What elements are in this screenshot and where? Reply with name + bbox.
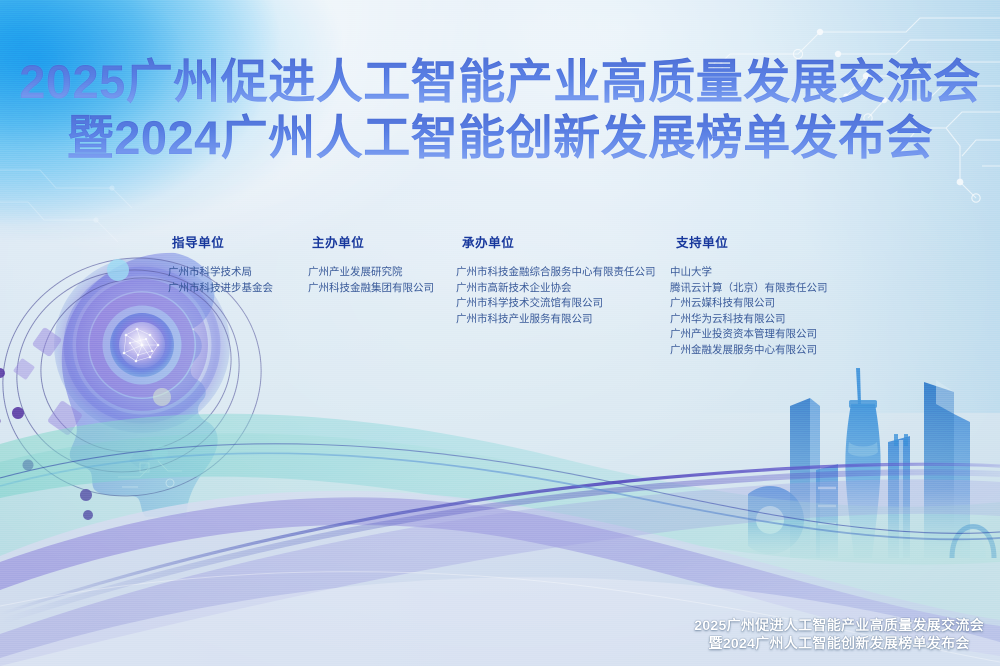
- title-line-2: 暨2024广州人工智能创新发展榜单发布会: [0, 112, 1000, 164]
- watermark-line-1: 2025广州促进人工智能产业高质量发展交流会: [694, 617, 984, 635]
- org-column-organizer: 主办单位 广州产业发展研究院 广州科技金融集团有限公司: [308, 232, 434, 296]
- org-item: 广州市科技产业服务有限公司: [456, 312, 656, 328]
- org-item: 广州市科技进步基金会: [168, 281, 273, 297]
- org-column-host: 承办单位 广州市科技金融综合服务中心有限责任公司 广州市高新技术企业协会 广州市…: [456, 232, 656, 327]
- page-title: 2025广州促进人工智能产业高质量发展交流会 暨2024广州人工智能创新发展榜单…: [0, 56, 1000, 163]
- org-item: 广州云媒科技有限公司: [670, 296, 828, 312]
- org-column-heading: 承办单位: [456, 232, 656, 251]
- org-item: 广州产业投资资本管理有限公司: [670, 327, 828, 343]
- title-line-1: 2025广州促进人工智能产业高质量发展交流会: [0, 56, 1000, 108]
- org-column-guidance: 指导单位 广州市科学技术局 广州市科技进步基金会: [168, 232, 273, 296]
- org-column-heading: 主办单位: [308, 232, 434, 251]
- watermark-line-2: 暨2024广州人工智能创新发展榜单发布会: [694, 635, 984, 653]
- org-item: 中山大学: [670, 265, 828, 281]
- org-item: 广州市高新技术企业协会: [456, 281, 656, 297]
- org-item: 广州产业发展研究院: [308, 265, 434, 281]
- org-item: 广州金融发展服务中心有限公司: [670, 343, 828, 359]
- org-item: 广州科技金融集团有限公司: [308, 281, 434, 297]
- org-item: 广州华为云科技有限公司: [670, 312, 828, 328]
- org-column-heading: 指导单位: [168, 232, 273, 251]
- org-item: 腾讯云计算（北京）有限责任公司: [670, 281, 828, 297]
- org-column-heading: 支持单位: [670, 232, 828, 251]
- watermark: 2025广州促进人工智能产业高质量发展交流会 暨2024广州人工智能创新发展榜单…: [694, 617, 984, 652]
- org-item: 广州市科学技术交流馆有限公司: [456, 296, 656, 312]
- conference-backdrop: 2025广州促进人工智能产业高质量发展交流会 暨2024广州人工智能创新发展榜单…: [0, 0, 1000, 666]
- org-item: 广州市科技金融综合服务中心有限责任公司: [456, 265, 656, 281]
- org-column-supporter: 支持单位 中山大学 腾讯云计算（北京）有限责任公司 广州云媒科技有限公司 广州华…: [670, 232, 828, 358]
- org-item: 广州市科学技术局: [168, 265, 273, 281]
